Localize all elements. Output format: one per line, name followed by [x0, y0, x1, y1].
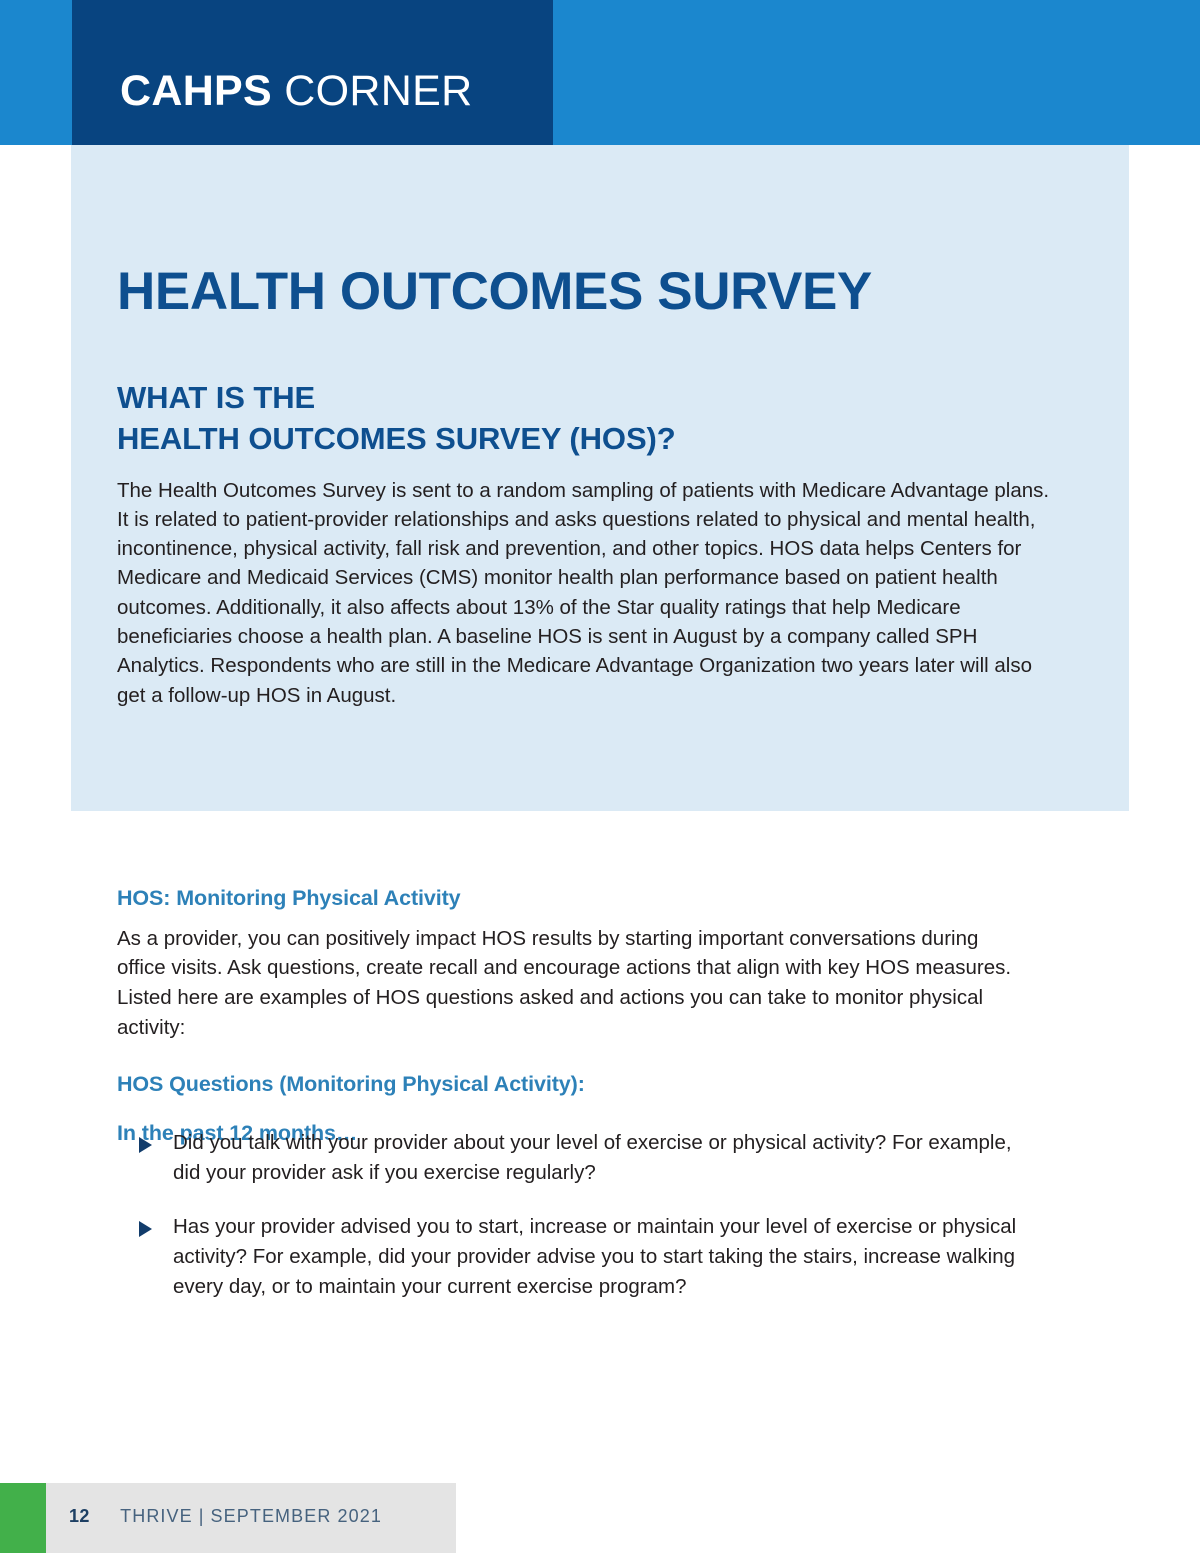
section-title-line-2: HEALTH OUTCOMES SURVEY (HOS)? — [117, 419, 676, 460]
list-item-text: Has your provider advised you to start, … — [173, 1215, 1016, 1298]
list-item: Has your provider advised you to start, … — [139, 1212, 1029, 1302]
footer-accent-block — [0, 1483, 46, 1553]
header-brand-strong: CAHPS — [120, 67, 272, 115]
section-title-line-1: WHAT IS THE — [117, 378, 676, 419]
triangle-bullet-icon — [139, 1137, 152, 1153]
hos-questions-list: Did you talk with your provider about yo… — [139, 1128, 1029, 1302]
subheading-hos-questions: HOS Questions (Monitoring Physical Activ… — [117, 1072, 585, 1097]
page-number: 12 — [69, 1506, 90, 1526]
footer-spacer — [90, 1506, 120, 1526]
header-brand-title: CAHPS CORNER — [120, 70, 472, 113]
section-title: WHAT IS THE HEALTH OUTCOMES SURVEY (HOS)… — [117, 378, 676, 460]
footer: 12 THRIVE|SEPTEMBER 2021 — [69, 1505, 382, 1527]
intro-paragraph: The Health Outcomes Survey is sent to a … — [117, 476, 1059, 710]
list-item: Did you talk with your provider about yo… — [139, 1128, 1029, 1188]
footer-issue: SEPTEMBER 2021 — [211, 1506, 382, 1526]
triangle-bullet-icon — [139, 1221, 152, 1237]
page-title: HEALTH OUTCOMES SURVEY — [117, 264, 872, 320]
footer-separator: | — [193, 1506, 211, 1526]
activity-paragraph: As a provider, you can positively impact… — [117, 924, 1022, 1043]
subheading-monitoring-physical-activity: HOS: Monitoring Physical Activity — [117, 886, 461, 911]
list-item-text: Did you talk with your provider about yo… — [173, 1131, 1012, 1184]
footer-publication: THRIVE — [120, 1506, 193, 1526]
header-brand-light: CORNER — [272, 67, 472, 115]
